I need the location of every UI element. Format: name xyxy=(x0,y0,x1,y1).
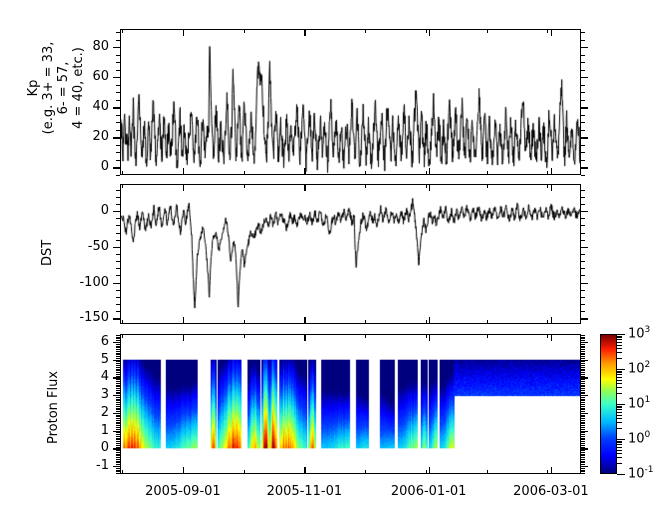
y-tick-minor xyxy=(116,470,120,471)
x-tick-minor xyxy=(365,334,366,338)
x-tick-major xyxy=(429,184,430,191)
colorbar-tick-minor xyxy=(617,383,622,384)
x-tick-major xyxy=(429,168,430,175)
y-tick-minor xyxy=(116,409,120,410)
x-tick-minor xyxy=(426,29,427,33)
y-tick-minor xyxy=(116,439,120,440)
y-tick-minor xyxy=(581,441,585,442)
y-tick-minor xyxy=(581,438,585,439)
y-tick-minor xyxy=(581,409,585,410)
colorbar-tick-minor xyxy=(617,418,622,419)
panel-dst xyxy=(120,184,581,324)
y-tick-minor xyxy=(116,55,120,56)
y-tick-major-right xyxy=(581,318,588,319)
y-tick-minor xyxy=(581,427,585,428)
y-tick-minor xyxy=(116,338,120,339)
y-tick-minor xyxy=(581,175,585,176)
y-tick-minor xyxy=(581,445,585,446)
y-tick-minor xyxy=(581,204,585,205)
y-tick-minor xyxy=(116,85,120,86)
y-tick-minor xyxy=(116,450,120,451)
y-tick-minor xyxy=(581,353,585,354)
y-tick-minor xyxy=(116,351,120,352)
x-tick-minor xyxy=(244,320,245,324)
y-tick-minor xyxy=(116,383,120,384)
y-tick-minor xyxy=(116,385,120,386)
x-tick-minor xyxy=(365,171,366,175)
colorbar-tick-label: 10-1 xyxy=(628,465,654,481)
y-tick-minor xyxy=(116,462,120,463)
y-tick-major-right xyxy=(581,107,588,108)
colorbar-tick-label: 101 xyxy=(628,395,650,411)
y-tick-minor xyxy=(581,92,585,93)
y-tick-minor xyxy=(116,365,120,366)
x-tick-major xyxy=(429,317,430,324)
y-tick-minor xyxy=(581,473,585,474)
y-tick-minor xyxy=(581,70,585,71)
y-tick-minor xyxy=(116,464,120,465)
x-tick-minor xyxy=(426,171,427,175)
y-tick-label: -1 xyxy=(0,458,109,473)
colorbar-tick-major xyxy=(617,439,625,440)
colorbar-tick-label: 100 xyxy=(628,430,650,446)
y-tick-minor xyxy=(581,233,585,234)
y-tick-minor xyxy=(581,468,585,469)
y-tick-minor xyxy=(116,356,120,357)
colorbar-tick-minor xyxy=(617,380,622,381)
y-tick-minor xyxy=(116,468,120,469)
x-tick-major xyxy=(183,334,184,341)
y-tick-minor xyxy=(581,130,585,131)
y-tick-minor xyxy=(116,261,120,262)
y-tick-minor xyxy=(116,415,120,416)
y-tick-minor xyxy=(581,452,585,453)
y-tick-minor xyxy=(116,218,120,219)
y-tick-minor xyxy=(581,356,585,357)
y-tick-minor xyxy=(581,397,585,398)
y-tick-minor xyxy=(116,354,120,355)
x-tick-major xyxy=(551,168,552,175)
y-tick-minor xyxy=(581,290,585,291)
y-tick-minor xyxy=(116,432,120,433)
colorbar-tick-minor xyxy=(617,428,622,429)
y-tick-minor xyxy=(581,374,585,375)
colorbar-tick-minor xyxy=(617,450,622,451)
y-tick-minor xyxy=(116,344,120,345)
y-tick-minor xyxy=(116,349,120,350)
x-tick-minor xyxy=(365,320,366,324)
colorbar-tick-minor xyxy=(617,409,622,410)
y-tick-minor xyxy=(116,32,120,33)
y-tick-minor xyxy=(581,411,585,412)
y-tick-major xyxy=(113,107,120,108)
y-tick-minor xyxy=(116,399,120,400)
y-tick-major-right xyxy=(581,247,588,248)
x-tick-minor xyxy=(426,470,427,474)
colorbar-tick-major xyxy=(617,369,625,370)
colorbar-tick-minor xyxy=(617,374,622,375)
y-tick-minor xyxy=(581,340,585,341)
y-tick-minor xyxy=(116,402,120,403)
y-tick-minor xyxy=(581,470,585,471)
y-tick-minor xyxy=(116,441,120,442)
y-tick-minor xyxy=(581,386,585,387)
x-tick-major xyxy=(304,184,305,191)
y-tick-minor xyxy=(581,462,585,463)
y-tick-minor xyxy=(116,445,120,446)
x-tick-label: 2006-03-01 xyxy=(513,484,589,499)
y-tick-minor xyxy=(116,386,120,387)
colorbar-tick-minor xyxy=(617,377,622,378)
y-tick-minor xyxy=(116,311,120,312)
panel-proton-flux xyxy=(120,334,581,474)
x-tick-label: 2005-09-01 xyxy=(145,484,221,499)
y-tick-major-right xyxy=(581,47,588,48)
y-tick-minor xyxy=(581,218,585,219)
y-tick-minor xyxy=(581,418,585,419)
x-tick-minor xyxy=(547,470,548,474)
y-tick-minor xyxy=(581,349,585,350)
y-tick-minor xyxy=(581,122,585,123)
y-tick-minor xyxy=(116,423,120,424)
y-tick-minor xyxy=(581,390,585,391)
y-tick-minor xyxy=(581,347,585,348)
y-tick-minor xyxy=(581,152,585,153)
y-tick-minor xyxy=(581,450,585,451)
y-tick-minor xyxy=(116,447,120,448)
y-tick-minor xyxy=(116,369,120,370)
y-tick-minor xyxy=(116,379,120,380)
colorbar-tick-minor xyxy=(617,352,622,353)
y-tick-minor xyxy=(116,275,120,276)
x-tick-major xyxy=(183,317,184,324)
colorbar-tick-minor xyxy=(617,463,622,464)
x-tick-minor xyxy=(122,320,123,324)
y-tick-minor xyxy=(581,383,585,384)
x-tick-minor xyxy=(487,171,488,175)
colorbar-tick-minor xyxy=(617,442,622,443)
y-tick-minor xyxy=(581,32,585,33)
x-tick-minor xyxy=(122,470,123,474)
y-tick-minor xyxy=(116,361,120,362)
x-tick-major xyxy=(551,317,552,324)
proton-flux-heatmap xyxy=(121,335,580,473)
x-tick-minor xyxy=(547,334,548,338)
y-tick-major-right xyxy=(581,77,588,78)
x-tick-major xyxy=(551,29,552,36)
y-tick-minor xyxy=(581,363,585,364)
y-tick-minor xyxy=(116,381,120,382)
x-tick-minor xyxy=(487,29,488,33)
x-tick-minor xyxy=(122,171,123,175)
x-tick-minor xyxy=(244,334,245,338)
y-tick-major xyxy=(113,211,120,212)
y-tick-minor xyxy=(116,122,120,123)
y-tick-minor xyxy=(116,268,120,269)
y-tick-minor xyxy=(116,225,120,226)
y-tick-minor xyxy=(581,454,585,455)
x-tick-minor xyxy=(244,29,245,33)
y-tick-minor xyxy=(116,346,120,347)
y-tick-minor xyxy=(116,471,120,472)
x-tick-minor xyxy=(244,184,245,188)
y-tick-minor xyxy=(116,406,120,407)
y-tick-minor xyxy=(581,115,585,116)
y-tick-minor xyxy=(116,347,120,348)
y-tick-minor xyxy=(581,399,585,400)
y-tick-minor xyxy=(581,346,585,347)
y-tick-minor xyxy=(581,268,585,269)
y-tick-minor xyxy=(116,367,120,368)
y-tick-minor xyxy=(581,275,585,276)
x-tick-label: 2006-01-01 xyxy=(391,484,467,499)
x-tick-major xyxy=(304,168,305,175)
colorbar-tick-minor xyxy=(617,342,622,343)
y-tick-minor xyxy=(116,422,120,423)
x-tick-major xyxy=(183,29,184,36)
colorbar-tick-minor xyxy=(617,337,622,338)
y-tick-minor xyxy=(116,197,120,198)
y-tick-minor xyxy=(581,62,585,63)
colorbar-tick-minor xyxy=(617,406,622,407)
y-tick-major xyxy=(113,77,120,78)
y-tick-minor xyxy=(116,233,120,234)
y-tick-minor xyxy=(581,379,585,380)
x-tick-major xyxy=(183,168,184,175)
x-tick-minor xyxy=(547,184,548,188)
figure-canvas: 020406080 Kp (e.g. 3+ = 33, 6- = 57, 4 =… xyxy=(0,0,665,523)
x-tick-minor xyxy=(244,470,245,474)
y-tick-major xyxy=(113,283,120,284)
y-tick-minor xyxy=(116,115,120,116)
y-tick-major-right xyxy=(581,211,588,212)
x-tick-major xyxy=(429,334,430,341)
y-tick-minor xyxy=(116,152,120,153)
y-tick-minor xyxy=(581,459,585,460)
y-tick-minor xyxy=(581,434,585,435)
colorbar-gradient xyxy=(601,335,616,473)
y-tick-minor xyxy=(116,452,120,453)
y-tick-label: -150 xyxy=(0,310,109,325)
colorbar-tick-minor xyxy=(617,441,622,442)
y-tick-minor xyxy=(581,376,585,377)
y-tick-minor xyxy=(116,425,120,426)
y-tick-minor xyxy=(581,423,585,424)
y-tick-minor xyxy=(581,443,585,444)
y-tick-minor xyxy=(116,240,120,241)
y-tick-minor xyxy=(581,393,585,394)
y-tick-minor xyxy=(116,204,120,205)
y-tick-major xyxy=(113,137,120,138)
y-tick-major xyxy=(113,47,120,48)
y-tick-minor xyxy=(116,353,120,354)
y-tick-minor xyxy=(581,367,585,368)
colorbar-tick-minor xyxy=(617,336,622,337)
x-tick-minor xyxy=(365,184,366,188)
colorbar-tick-label: 103 xyxy=(628,325,650,341)
y-tick-minor xyxy=(581,420,585,421)
colorbar-tick-minor xyxy=(617,415,622,416)
x-tick-minor xyxy=(122,334,123,338)
y-tick-minor xyxy=(581,408,585,409)
x-tick-minor xyxy=(122,29,123,33)
y-tick-minor xyxy=(581,432,585,433)
x-tick-major xyxy=(183,467,184,474)
y-tick-minor xyxy=(116,372,120,373)
y-tick-minor xyxy=(581,447,585,448)
y-tick-minor xyxy=(581,415,585,416)
y-tick-minor xyxy=(116,376,120,377)
y-tick-minor xyxy=(116,335,120,336)
kp-ylabel-line-3: 4 = 40, etc.) xyxy=(71,13,86,163)
y-tick-minor xyxy=(581,225,585,226)
y-tick-minor xyxy=(116,408,120,409)
y-tick-minor xyxy=(581,354,585,355)
x-tick-major xyxy=(304,467,305,474)
y-tick-minor xyxy=(116,429,120,430)
x-tick-minor xyxy=(365,470,366,474)
y-tick-minor xyxy=(581,297,585,298)
x-tick-major xyxy=(304,29,305,36)
colorbar-tick-minor xyxy=(617,372,622,373)
colorbar-tick-major xyxy=(617,334,625,335)
y-tick-major-right xyxy=(581,283,588,284)
y-tick-minor xyxy=(116,418,120,419)
y-tick-minor xyxy=(581,145,585,146)
y-tick-minor xyxy=(116,358,120,359)
y-tick-major xyxy=(113,167,120,168)
colorbar-tick-minor xyxy=(617,387,622,388)
colorbar-tick-minor xyxy=(617,407,622,408)
y-tick-minor xyxy=(581,388,585,389)
y-tick-minor xyxy=(581,40,585,41)
y-tick-minor xyxy=(116,459,120,460)
y-tick-minor xyxy=(116,297,120,298)
y-tick-minor xyxy=(116,393,120,394)
y-tick-minor xyxy=(581,457,585,458)
x-tick-minor xyxy=(426,320,427,324)
y-tick-minor xyxy=(116,404,120,405)
y-tick-minor xyxy=(581,190,585,191)
y-tick-minor xyxy=(116,443,120,444)
y-tick-minor xyxy=(581,85,585,86)
y-tick-minor xyxy=(116,420,120,421)
y-tick-minor xyxy=(116,190,120,191)
y-tick-minor xyxy=(116,363,120,364)
y-tick-minor xyxy=(581,436,585,437)
x-tick-minor xyxy=(487,184,488,188)
y-tick-minor xyxy=(581,392,585,393)
colorbar-tick-minor xyxy=(617,453,622,454)
colorbar-tick-minor xyxy=(617,457,622,458)
y-tick-minor xyxy=(581,370,585,371)
x-tick-major xyxy=(304,317,305,324)
x-tick-minor xyxy=(365,29,366,33)
y-tick-minor xyxy=(581,404,585,405)
x-tick-major xyxy=(304,334,305,341)
y-tick-minor xyxy=(581,471,585,472)
x-tick-minor xyxy=(487,470,488,474)
x-tick-minor xyxy=(547,171,548,175)
y-tick-minor xyxy=(116,145,120,146)
x-tick-major xyxy=(429,29,430,36)
y-tick-minor xyxy=(116,92,120,93)
kp-ylabel-line-2: 6- = 57, xyxy=(56,13,71,163)
y-tick-minor xyxy=(581,311,585,312)
y-tick-minor xyxy=(116,70,120,71)
colorbar-tick-minor xyxy=(617,447,622,448)
y-tick-minor xyxy=(581,365,585,366)
kp-y-axis-label: Kp (e.g. 3+ = 33, 6- = 57, 4 = 40, etc.) xyxy=(26,13,86,163)
y-tick-minor xyxy=(581,402,585,403)
y-tick-minor xyxy=(116,411,120,412)
y-tick-minor xyxy=(116,374,120,375)
proton-flux-y-axis-label: Proton Flux xyxy=(46,371,61,444)
proton-flux-colorbar xyxy=(600,334,617,474)
y-tick-minor xyxy=(581,422,585,423)
y-tick-minor xyxy=(116,130,120,131)
y-tick-minor xyxy=(116,337,120,338)
x-tick-minor xyxy=(487,320,488,324)
y-tick-minor xyxy=(116,457,120,458)
colorbar-tick-major xyxy=(617,474,625,475)
y-tick-minor xyxy=(581,429,585,430)
y-tick-minor xyxy=(116,434,120,435)
y-tick-minor xyxy=(116,370,120,371)
y-tick-label: 0 xyxy=(0,203,109,218)
y-tick-label: -100 xyxy=(0,275,109,290)
colorbar-tick-minor xyxy=(617,358,622,359)
y-tick-minor xyxy=(116,473,120,474)
y-tick-minor xyxy=(581,261,585,262)
y-tick-minor xyxy=(581,461,585,462)
y-tick-minor xyxy=(581,160,585,161)
y-tick-minor xyxy=(581,254,585,255)
kp-ylabel-line-1: (e.g. 3+ = 33, xyxy=(41,13,56,163)
y-tick-minor xyxy=(581,464,585,465)
panel-kp xyxy=(120,29,581,175)
y-tick-minor xyxy=(116,438,120,439)
colorbar-tick-minor xyxy=(617,348,622,349)
y-tick-minor xyxy=(116,392,120,393)
colorbar-tick-major xyxy=(617,404,625,405)
x-tick-minor xyxy=(426,184,427,188)
colorbar-tick-minor xyxy=(617,345,622,346)
y-tick-minor xyxy=(116,388,120,389)
x-tick-major xyxy=(551,467,552,474)
colorbar-tick-minor xyxy=(617,412,622,413)
y-tick-minor xyxy=(581,381,585,382)
y-tick-major-right xyxy=(581,137,588,138)
y-tick-minor xyxy=(581,425,585,426)
colorbar-tick-minor xyxy=(617,444,622,445)
y-tick-minor xyxy=(116,400,120,401)
y-tick-minor xyxy=(116,390,120,391)
y-tick-minor xyxy=(116,100,120,101)
y-tick-minor xyxy=(581,400,585,401)
y-tick-minor xyxy=(581,338,585,339)
y-tick-minor xyxy=(581,344,585,345)
y-tick-minor xyxy=(581,369,585,370)
x-tick-minor xyxy=(244,171,245,175)
kp-timeseries-plot xyxy=(121,30,580,174)
x-tick-major xyxy=(183,184,184,191)
colorbar-tick-minor xyxy=(617,422,622,423)
y-tick-minor xyxy=(116,455,120,456)
x-tick-minor xyxy=(547,320,548,324)
y-tick-minor xyxy=(116,416,120,417)
y-tick-major xyxy=(113,247,120,248)
